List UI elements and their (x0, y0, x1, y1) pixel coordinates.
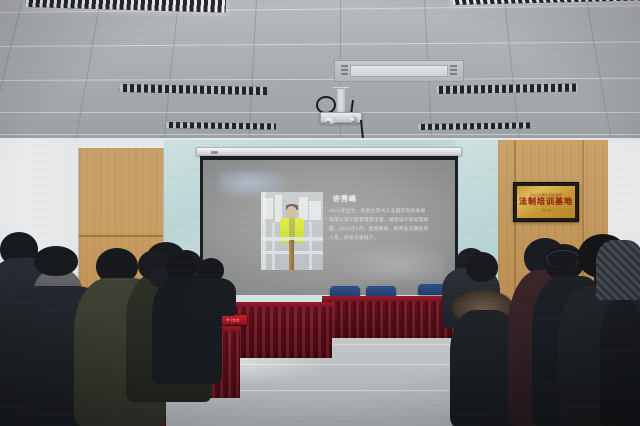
ceiling-grid-line (0, 134, 640, 135)
ceiling-light-fixture (452, 0, 640, 5)
slide-photo (261, 192, 323, 270)
vent-diffuser (350, 65, 447, 77)
projection-screen: 许秀峰 1972年出生，先后任苏州工业园区科技发展 有限公司工程管理部主管、规划… (200, 160, 458, 295)
slide-body-line: 1972年出生，先后任苏州工业园区科技发展 (329, 206, 453, 215)
screen-roller-housing[interactable] (196, 147, 462, 156)
photo-post (289, 240, 294, 270)
photo-block (263, 198, 273, 218)
ceiling-grid-line (0, 0, 23, 146)
screen-glare (332, 241, 445, 282)
light-louver-grille (166, 122, 276, 130)
projector-mount-pole (337, 89, 345, 113)
suspended-ceiling (0, 0, 640, 150)
ceiling-grid-line (0, 41, 640, 47)
projector-foot (326, 121, 330, 125)
attendee-head (34, 246, 78, 276)
panel-seam (79, 235, 163, 237)
slide-body-line: 理。2014年2月，因受贿罪、被判处有期徒刑 (329, 224, 453, 233)
photo-block (309, 201, 320, 220)
ceiling-light-fixture (436, 84, 578, 94)
photo-block (299, 197, 308, 220)
ceiling-light-fixture (120, 84, 268, 95)
desk-nameplate-label: 学习位置 (226, 318, 240, 322)
plaque-main-text: 法制培训基地 (519, 198, 573, 206)
projector (320, 112, 362, 123)
light-louver-grille (120, 84, 268, 95)
slide-body-line: 十年，并处没收财产。 (329, 233, 453, 242)
ceiling-grid-line (0, 78, 640, 81)
attendee-body (190, 278, 236, 316)
vent-louver (450, 65, 457, 78)
ceiling-grid-line (586, 0, 613, 148)
ceiling-light-fixture (166, 122, 276, 130)
plaque-top-line: 苏州工业园区司法局授牌 (530, 193, 562, 197)
projector-foot (352, 121, 356, 125)
screen-pull-knob-icon[interactable] (211, 151, 218, 154)
plaque-gold-face: 苏州工业园区司法局授牌 法制培训基地 二零一五年 (517, 186, 575, 218)
photo-bar (309, 222, 312, 270)
slide-body-line: 有限公司工程管理部主管、规划设计部处理助 (329, 215, 453, 224)
slide-body-text: 1972年出生，先后任苏州工业园区科技发展 有限公司工程管理部主管、规划设计部处… (329, 206, 453, 242)
light-louver-grille (452, 0, 640, 5)
table-edge (322, 296, 460, 301)
presentation-room-photo: 苏州工业园区司法局授牌 法制培训基地 二零一五年 许秀峰 (0, 0, 640, 426)
photo-bar (272, 223, 275, 270)
light-louver-grille (436, 84, 578, 94)
photo-subject-head (286, 206, 297, 218)
attendee-head (466, 252, 498, 282)
vent-louver (341, 65, 348, 78)
attendee-headband (546, 250, 580, 268)
wall-plaque: 苏州工业园区司法局授牌 法制培训基地 二零一五年 (513, 182, 579, 222)
attendee-body (596, 240, 640, 300)
attendee-body (600, 300, 640, 426)
slide-title: 许秀峰 (333, 194, 357, 204)
air-conditioner-vent (334, 60, 464, 82)
table-skirt (322, 296, 460, 338)
light-louver-grille (418, 122, 530, 130)
ceiling-light-fixture (418, 122, 530, 130)
ceiling-grid-line (74, 0, 101, 148)
plaque-bottom-line: 二零一五年 (541, 208, 552, 212)
